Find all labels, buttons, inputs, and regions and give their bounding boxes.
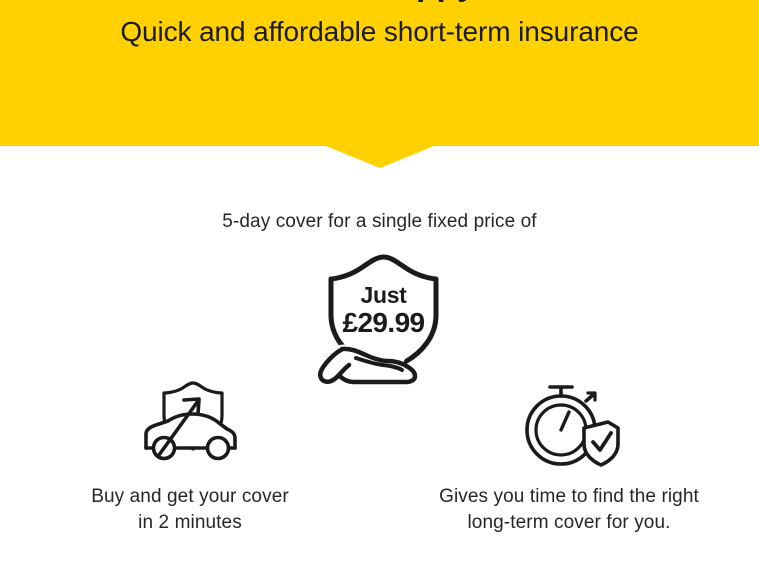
hero-headline-cropped: Drive happy [0, 0, 759, 2]
feature-caption-speed: Buy and get your cover in 2 minutes [20, 484, 360, 536]
feature-item-time: Gives you time to find the right long-te… [399, 378, 739, 536]
car-shield-arrow-icon [20, 378, 360, 470]
feature-caption-time: Gives you time to find the right long-te… [399, 484, 739, 536]
price-intro-text: 5-day cover for a single fixed price of [0, 211, 759, 233]
stopwatch-shield-check-icon [399, 378, 739, 470]
downward-triangle-notch-icon [326, 146, 434, 168]
price-just-label: Just [311, 282, 456, 309]
feature-item-speed: Buy and get your cover in 2 minutes [20, 378, 360, 536]
hero-banner: Drive happy Quick and affordable short-t… [0, 0, 759, 146]
price-amount-label: £29.99 [311, 307, 456, 339]
hero-subtitle: Quick and affordable short-term insuranc… [0, 16, 759, 48]
